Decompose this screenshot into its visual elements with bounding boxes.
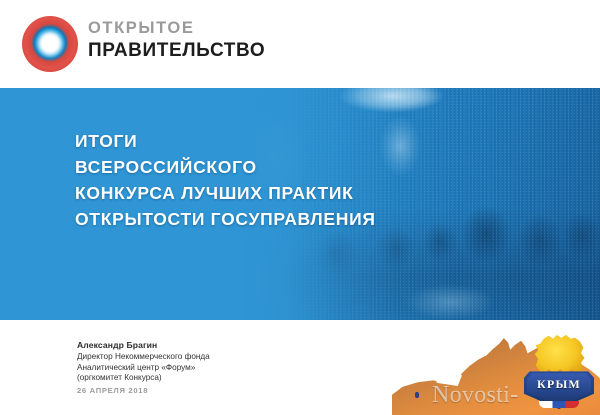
title-line-3: КОНКУРСА ЛУЧШИХ ПРАКТИК [75, 180, 376, 206]
slide-banner: ИТОГИ ВСЕРОССИЙСКОГО КОНКУРСА ЛУЧШИХ ПРА… [0, 88, 600, 320]
speaker-block: Александр Брагин Директор Некоммерческог… [77, 339, 210, 384]
crimea-map-marker-icon [415, 392, 419, 398]
presentation-date: 26 АПРЕЛЯ 2018 [77, 386, 148, 395]
brand-logotype: ОТКРЫТОЕ ПРАВИТЕЛЬСТВО [88, 20, 265, 60]
brand-line-open: ОТКРЫТОЕ [88, 20, 265, 37]
slide-title: ИТОГИ ВСЕРОССИЙСКОГО КОНКУРСА ЛУЧШИХ ПРА… [75, 128, 376, 232]
speaker-role-line-2: Аналитический центр «Форум» [77, 363, 210, 374]
watermark-text: Novosti- [432, 382, 518, 409]
krym-badge-label: КРЫМ [524, 377, 594, 392]
speaker-name: Александр Брагин [77, 339, 210, 351]
title-line-2: ВСЕРОССИЙСКОГО [75, 154, 376, 180]
brand-line-government: ПРАВИТЕЛЬСТВО [88, 41, 265, 60]
presentation-slide: ОТКРЫТОЕ ПРАВИТЕЛЬСТВО ИТОГИ ВСЕРОССИЙСК… [0, 0, 600, 415]
open-government-circle-logo-icon [22, 16, 78, 72]
slide-header: ОТКРЫТОЕ ПРАВИТЕЛЬСТВО [0, 0, 600, 88]
title-line-4: ОТКРЫТОСТИ ГОСУПРАВЛЕНИЯ [75, 206, 376, 232]
title-line-1: ИТОГИ [75, 128, 376, 154]
speaker-role-line-3: (оргкомитет Конкурса) [77, 373, 210, 384]
krym-badge: КРЫМ [524, 331, 594, 409]
speaker-role-line-1: Директор Некоммерческого фонда [77, 352, 210, 363]
slide-footer: Александр Брагин Директор Некоммерческог… [0, 320, 600, 415]
crimea-tricolor-icon [539, 401, 579, 408]
